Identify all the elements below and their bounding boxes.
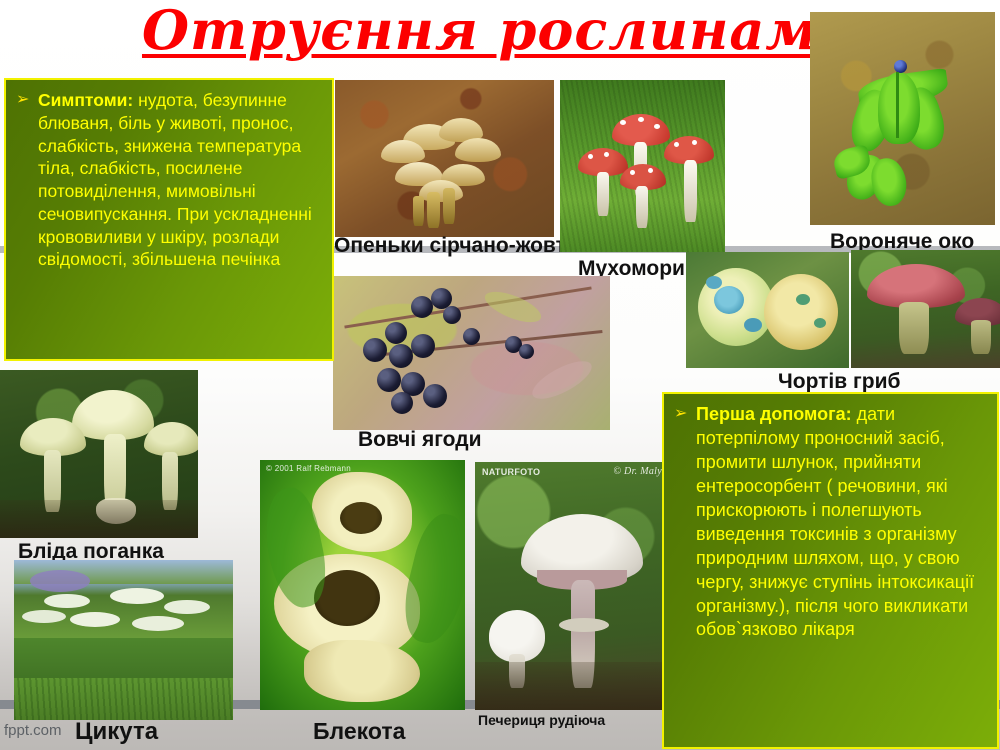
- bullet-icon: ➢: [16, 89, 38, 271]
- photo-honey-fungus: [335, 80, 554, 237]
- first-aid-textbox: ➢ Перша допомога: дати потерпілому проно…: [662, 392, 999, 749]
- caption-wolf-berries: Вовчі ягоди: [358, 428, 481, 452]
- photo-cicuta-art: [14, 560, 233, 720]
- photo-satans-bolete-b: [851, 250, 1000, 368]
- slide-root: Отруєння рослинами Вороняче око: [0, 0, 1000, 750]
- photo-henbane-art: [260, 460, 465, 710]
- photo-fly-agaric-art: [560, 80, 725, 252]
- symptoms-text: Симптоми: нудота, безупинне блюваня, біл…: [38, 89, 324, 271]
- photo-death-cap-art: [0, 370, 198, 538]
- photo-henbane: © 2001 Ralf Rebmann: [260, 460, 465, 710]
- photo-satans-bolete-a-art: [686, 252, 849, 368]
- author-watermark: © Dr. Maly: [613, 466, 662, 477]
- first-aid-heading: Перша допомога:: [696, 404, 852, 424]
- caption-cicuta: Цикута: [75, 718, 158, 746]
- naturfoto-watermark: NATURFOTO: [482, 467, 540, 477]
- photo-wolf-berries-art: [333, 276, 610, 430]
- photo-cicuta: [14, 560, 233, 720]
- photo-herb-paris: [810, 12, 995, 225]
- symptoms-heading: Симптоми:: [38, 90, 133, 110]
- caption-honey-fungus: Опеньки сірчано-жовті: [334, 234, 572, 258]
- photo-blushing-agaric-art: [475, 462, 668, 710]
- photo-satans-bolete-b-art: [851, 250, 1000, 368]
- caption-henbane: Блекота: [313, 718, 405, 745]
- photo-honey-fungus-art: [335, 80, 554, 237]
- first-aid-body: дати потерпілому проносний засіб, промит…: [696, 404, 974, 639]
- symptoms-body: нудота, безупинне блюваня, біль у животі…: [38, 90, 312, 269]
- caption-satans-bolete: Чортів гриб: [778, 370, 900, 394]
- photo-wolf-berries: [333, 276, 610, 430]
- henbane-copyright-watermark: © 2001 Ralf Rebmann: [266, 464, 351, 473]
- symptoms-textbox: ➢ Симптоми: нудота, безупинне блюваня, б…: [4, 78, 334, 361]
- photo-satans-bolete-a: [686, 252, 849, 368]
- bullet-icon: ➢: [674, 403, 696, 642]
- photo-death-cap: [0, 370, 198, 538]
- photo-blushing-agaric: NATURFOTO © Dr. Maly: [475, 462, 668, 710]
- photo-herb-paris-art: [810, 12, 995, 225]
- photo-fly-agaric: [560, 80, 725, 252]
- caption-blushing-agaric: Печериця рудіюча: [478, 712, 605, 728]
- first-aid-text: Перша допомога: дати потерпілому проносн…: [696, 403, 989, 642]
- fppt-watermark: fppt.com: [4, 722, 62, 739]
